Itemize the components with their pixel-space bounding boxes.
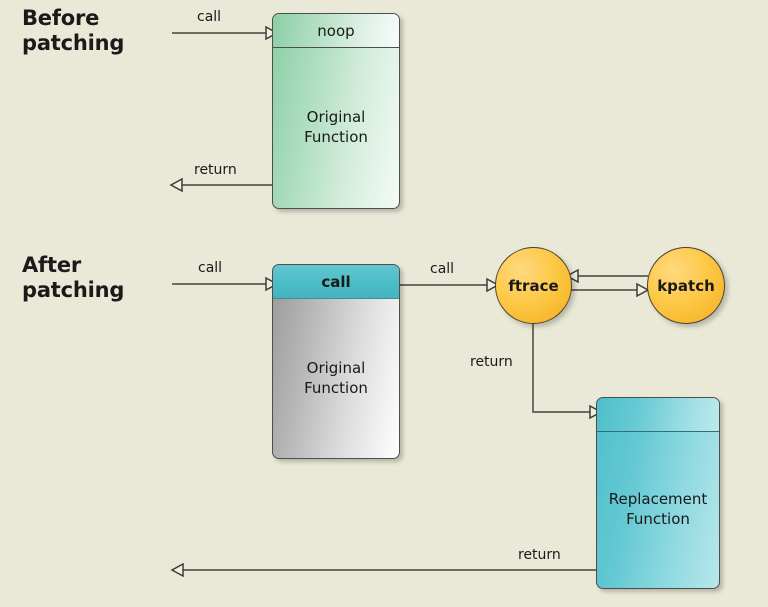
node-original-function-after[interactable]: call Original Function: [272, 264, 400, 459]
node-ftrace[interactable]: ftrace: [495, 247, 572, 324]
node-body-line1: Original: [307, 359, 366, 379]
node-kpatch-label: kpatch: [657, 277, 715, 295]
node-kpatch[interactable]: kpatch: [647, 247, 725, 324]
edge-call-after: [172, 278, 277, 290]
node-header-replacement: [597, 398, 719, 432]
diagram-canvas: Before patching After patching noop Orig…: [0, 0, 768, 607]
node-body-original-before: Original Function: [273, 48, 399, 208]
node-original-function-before[interactable]: noop Original Function: [272, 13, 400, 209]
edge-replacement-return: [172, 564, 597, 576]
node-body-line1: Original: [307, 108, 366, 128]
node-body-line2: Function: [304, 379, 368, 399]
edge-original-to-ftrace: [400, 279, 498, 291]
section-label-after: After patching: [22, 253, 124, 303]
node-header-noop: noop: [273, 14, 399, 48]
node-body-line2: Function: [626, 510, 690, 530]
node-body-original-after: Original Function: [273, 299, 399, 458]
section-label-before: Before patching: [22, 6, 124, 56]
edge-label-return-to-replacement: return: [470, 354, 513, 370]
node-body-line1: Replacement: [609, 490, 708, 510]
edge-kpatch-to-ftrace: [567, 270, 648, 282]
edge-label-return-from-replacement: return: [518, 547, 561, 563]
edge-return-before: [171, 179, 272, 191]
edge-label-call-before: call: [197, 9, 221, 25]
edge-label-call-after: call: [198, 260, 222, 276]
node-body-replacement: Replacement Function: [597, 432, 719, 588]
node-header-call: call: [273, 265, 399, 299]
edge-ftrace-to-kpatch: [569, 284, 648, 296]
node-replacement-function[interactable]: Replacement Function: [596, 397, 720, 589]
edge-call-before: [172, 27, 277, 39]
edge-ftrace-to-replacement: [533, 322, 601, 418]
node-ftrace-label: ftrace: [508, 277, 558, 295]
node-body-line2: Function: [304, 128, 368, 148]
edge-label-return-before: return: [194, 162, 237, 178]
edge-label-call-to-ftrace: call: [430, 261, 454, 277]
